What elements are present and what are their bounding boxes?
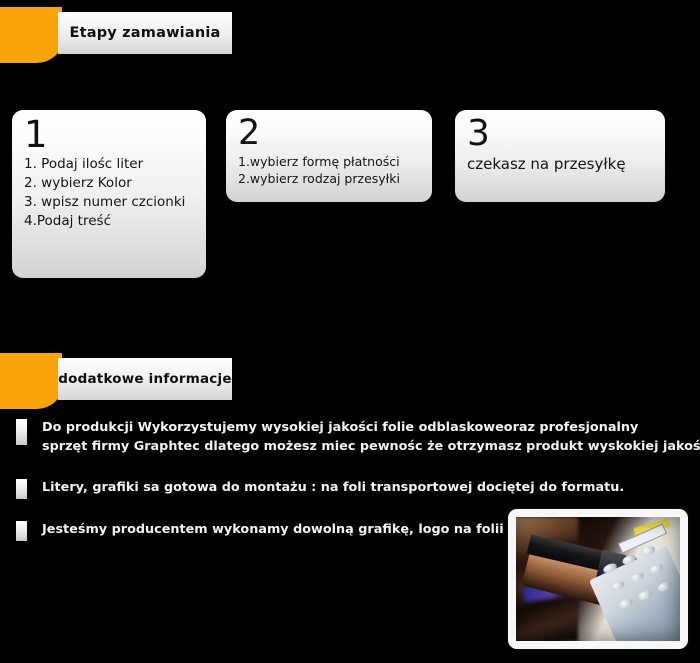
bullet-square-icon	[16, 479, 27, 499]
step-number-1: 1	[24, 116, 194, 154]
step-line: 4.Podaj treść	[24, 212, 194, 231]
list-item: Do produkcji Wykorzystujemy wysokiej jak…	[16, 418, 696, 457]
photo-vignette	[516, 517, 680, 641]
step-line: 2.wybierz rodzaj przesyłki	[238, 170, 420, 188]
banner-orange-tab-icon	[0, 353, 62, 409]
step-line: 1.wybierz formę płatności	[238, 153, 420, 171]
info-text: Litery, grafiki sa gotowa do montażu : n…	[42, 478, 624, 497]
step-number-2: 2	[238, 116, 420, 152]
step-line: 1. Podaj ilośc liter	[24, 155, 194, 174]
banner-label-bar: dodatkowe informacje	[58, 358, 232, 400]
step-line: 3. wpisz numer czcionki	[24, 193, 194, 212]
step-lines-2: 1.wybierz formę płatności 2.wybierz rodz…	[238, 153, 420, 188]
step-lines-1: 1. Podaj ilośc liter 2. wybierz Kolor 3.…	[24, 155, 194, 232]
banner-label-bar: Etapy zamawiania	[58, 12, 232, 54]
plotter-photo-frame	[508, 509, 688, 649]
info-text-line: Jesteśmy producentem wykonamy dowolną gr…	[42, 520, 513, 539]
section-title-steps: Etapy zamawiania	[69, 25, 220, 41]
plotter-photo-image	[516, 517, 680, 641]
bullet-square-icon	[16, 419, 27, 445]
info-text: Do produkcji Wykorzystujemy wysokiej jak…	[42, 418, 700, 457]
info-text-line: Litery, grafiki sa gotowa do montażu : n…	[42, 478, 624, 497]
info-text-line: sprzęt firmy Graphtec dlatego możesz mie…	[42, 437, 700, 456]
list-item: Litery, grafiki sa gotowa do montażu : n…	[16, 478, 696, 499]
info-text-line: Do produkcji Wykorzystujemy wysokiej jak…	[42, 418, 700, 437]
step-line: 2. wybierz Kolor	[24, 174, 194, 193]
step-card-3[interactable]: 3 czekasz na przesyłkę	[455, 110, 665, 202]
step-number-3: 3	[467, 116, 653, 153]
section-title-info: dodatkowe informacje	[58, 371, 231, 387]
step-card-1[interactable]: 1 1. Podaj ilośc liter 2. wybierz Kolor …	[12, 110, 206, 278]
bullet-square-icon	[16, 521, 27, 541]
info-text: Jesteśmy producentem wykonamy dowolną gr…	[42, 520, 513, 539]
page-root: Etapy zamawiania 1 1. Podaj ilośc liter …	[0, 0, 700, 663]
step-card-2[interactable]: 2 1.wybierz formę płatności 2.wybierz ro…	[226, 110, 432, 202]
banner-orange-tab-icon	[0, 7, 62, 63]
step-lines-3: czekasz na przesyłkę	[467, 154, 653, 175]
step-line: czekasz na przesyłkę	[467, 154, 653, 175]
